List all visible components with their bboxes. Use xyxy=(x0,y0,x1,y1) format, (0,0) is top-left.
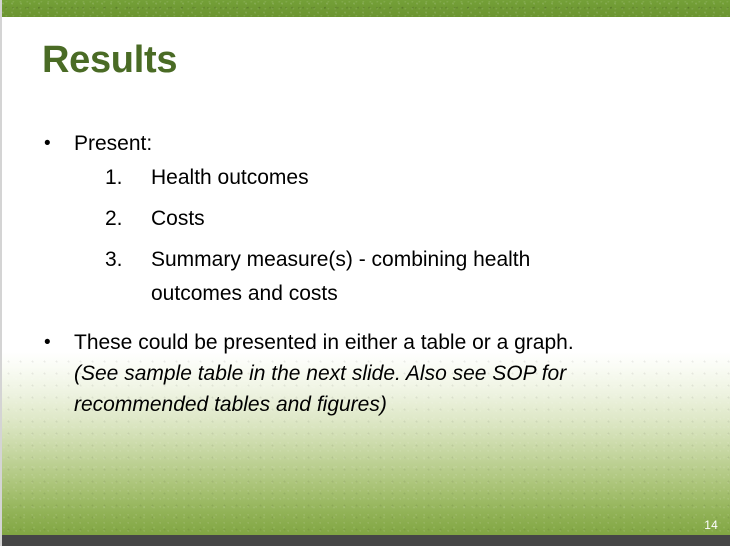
top-green-band xyxy=(2,0,730,17)
number-marker: 3. xyxy=(105,243,151,277)
list-item-label: Costs xyxy=(151,202,621,236)
list-item: 1. Health outcomes xyxy=(2,161,730,195)
bullet-marker-icon: • xyxy=(44,327,74,358)
list-item: • Present: xyxy=(2,128,730,159)
list-item: 3. Summary measure(s) - combining health… xyxy=(2,243,730,311)
number-marker: 2. xyxy=(105,202,151,236)
list-item: 2. Costs xyxy=(2,202,730,236)
list-item-label: Summary measure(s) - combining health ou… xyxy=(151,243,621,311)
list-item-text-regular: These could be presented in either a tab… xyxy=(74,331,574,354)
list-item-label: These could be presented in either a tab… xyxy=(74,327,614,420)
number-marker: 1. xyxy=(105,161,151,195)
page-title: Results xyxy=(42,40,177,82)
paragraph-spacer xyxy=(2,318,730,327)
list-item-label: Health outcomes xyxy=(151,161,621,195)
slide-body: • Present: 1. Health outcomes 2. Costs 3… xyxy=(2,128,730,422)
list-item: • These could be presented in either a t… xyxy=(2,327,730,420)
bullet-marker-icon: • xyxy=(44,128,74,159)
page-number: 14 xyxy=(704,518,718,532)
list-item-label: Present: xyxy=(74,128,634,159)
slide: Results • Present: 1. Health outcomes 2.… xyxy=(0,0,730,546)
list-item-text-italic: (See sample table in the next slide. Als… xyxy=(74,362,566,416)
footer-dark-strip xyxy=(2,535,730,546)
